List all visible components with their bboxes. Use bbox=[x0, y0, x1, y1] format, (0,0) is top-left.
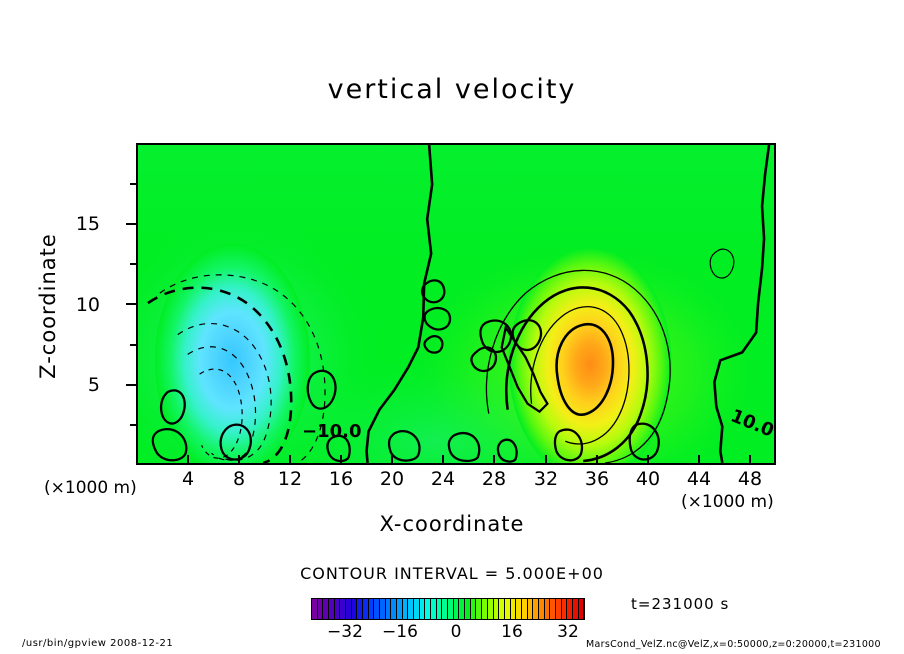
x-axis-unit: (×1000 m) bbox=[681, 492, 774, 512]
x-tick-label: 44 bbox=[679, 468, 719, 490]
x-axis-title: X-coordinate bbox=[252, 512, 652, 536]
colorbar-tick-label: 16 bbox=[487, 622, 537, 642]
x-tick-label: 20 bbox=[372, 468, 412, 490]
colorbar-tick-label: −16 bbox=[375, 622, 425, 642]
x-tick-label: 28 bbox=[474, 468, 514, 490]
time-label: t=231000 s bbox=[631, 595, 729, 613]
x-tick-label: 8 bbox=[219, 468, 259, 490]
colorbar[interactable] bbox=[311, 598, 585, 620]
colorbar-tick-label: 0 bbox=[431, 622, 481, 642]
y-tick-label: 10 bbox=[60, 294, 100, 316]
colorbar-band bbox=[579, 599, 585, 619]
x-tick-label: 32 bbox=[526, 468, 566, 490]
contour-label-negative: −10.0 bbox=[302, 421, 362, 442]
source-text: MarsCond_VelZ.nc@VelZ,x=0:50000,z=0:2000… bbox=[586, 639, 881, 650]
x-tick-label: 40 bbox=[628, 468, 668, 490]
y-axis-title: Z-coordinate bbox=[36, 216, 60, 396]
y-tick-label: 5 bbox=[60, 374, 100, 396]
page-title: vertical velocity bbox=[0, 74, 904, 105]
credit-text: /usr/bin/gpview 2008-12-21 bbox=[22, 638, 173, 649]
y-axis-unit: (×1000 m) bbox=[44, 478, 137, 498]
y-tick-label: 15 bbox=[60, 213, 100, 235]
x-tick-label: 4 bbox=[168, 468, 208, 490]
x-tick-label: 48 bbox=[730, 468, 770, 490]
contour-interval-text: CONTOUR INTERVAL = 5.000E+00 bbox=[152, 564, 752, 583]
colorbar-tick-label: −32 bbox=[320, 622, 370, 642]
x-tick-label: 24 bbox=[423, 468, 463, 490]
x-tick-label: 12 bbox=[270, 468, 310, 490]
x-tick-label: 36 bbox=[577, 468, 617, 490]
x-tick-label: 16 bbox=[321, 468, 361, 490]
velocity-field bbox=[138, 145, 774, 463]
contour-plot: −10.0 10.0 0.00 bbox=[136, 143, 776, 465]
